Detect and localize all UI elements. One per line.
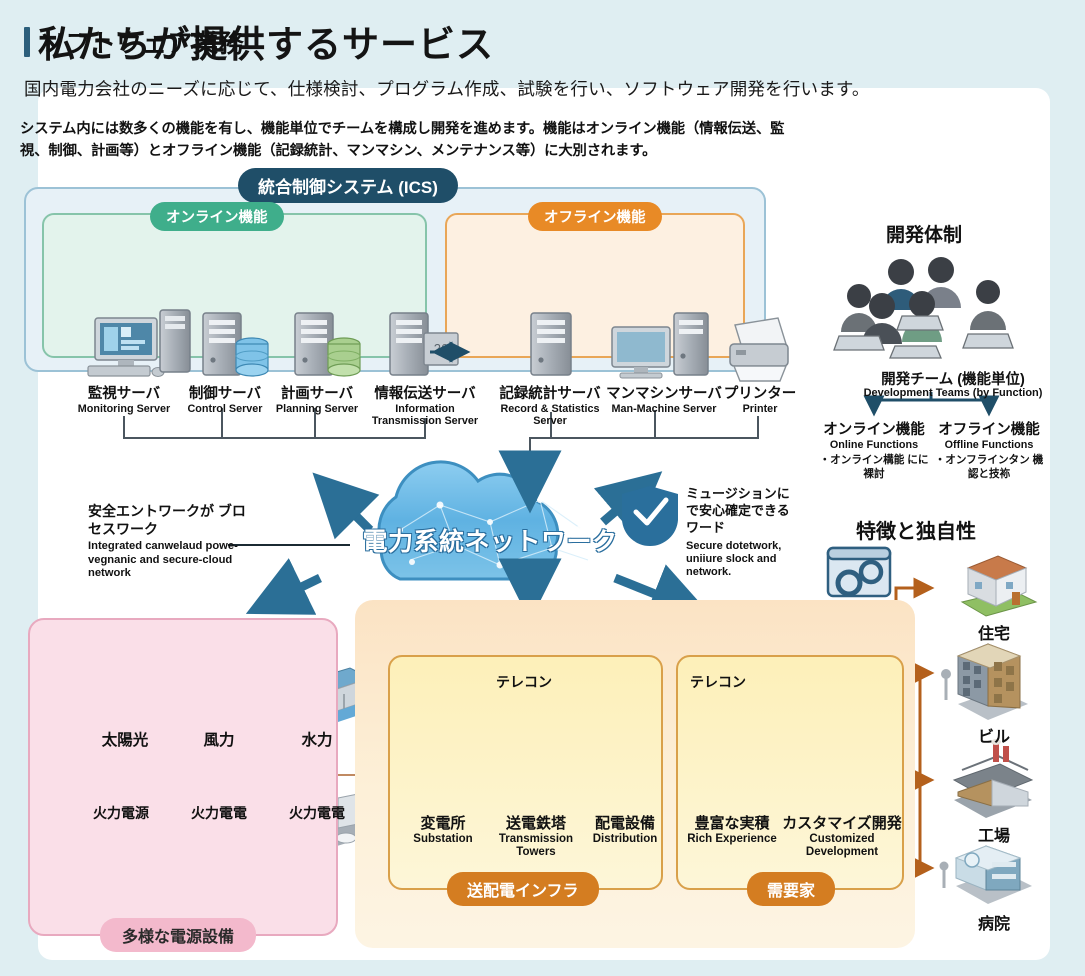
- generation-panel: [28, 618, 338, 936]
- consumer-building: ビル: [944, 723, 1044, 747]
- node-rich-experience: 豊富な実積 Rich Experience: [678, 812, 786, 846]
- server-label-en: Monitoring Server: [76, 403, 172, 415]
- generation-panel-pill: 多様な電源設備: [100, 918, 256, 952]
- server-information-transmission: 情報伝送サーバ Information Transmission Server: [362, 382, 488, 428]
- consumer-label: ビル: [944, 723, 1044, 747]
- consumer-label: 工場: [944, 822, 1044, 846]
- node-label-en: Rich Experience: [678, 833, 786, 846]
- node-label-jp: 豊富な実積: [678, 812, 786, 833]
- gen-label-hydro: 水力: [270, 728, 364, 750]
- server-monitoring: 監視サーバ Monitoring Server: [76, 382, 172, 415]
- node-label-en: Substation: [396, 833, 490, 846]
- section-accent-bar: [24, 27, 30, 57]
- online-functions-box: [42, 213, 427, 358]
- features-title: 特徴と独自性: [856, 515, 976, 544]
- dev-structure-title: 開発体制: [886, 220, 962, 247]
- dev-column-online: オンライン機能 Online Functions ・オンライン構能 にに裸討: [818, 418, 930, 482]
- server-label-en: Planning Server: [270, 403, 364, 415]
- node-label-jp: 配電設備: [580, 812, 670, 833]
- server-record-statistics: 記録統計サーバ Record & Statistics Server: [489, 382, 611, 428]
- server-label-en: Information Transmission Server: [362, 403, 488, 428]
- node-customized-development: カスタマイズ開発 Customized Development: [782, 812, 902, 859]
- server-label-jp: 制御サーバ: [176, 382, 274, 403]
- server-label-jp: 情報伝送サーバ: [362, 382, 488, 403]
- note-secure-network-right: ミュージションに で安心確定できる ワード Secure dotetwork, …: [686, 486, 806, 579]
- dev-team-label-en: Development Teams (by Function): [838, 387, 1068, 399]
- server-label-en: Man-Machine Server: [605, 403, 723, 415]
- gen-label-solar: 太陽光: [78, 728, 172, 750]
- consumer-factory: 工場: [944, 822, 1044, 846]
- server-label-jp: プリンター: [718, 382, 802, 403]
- gen-label-thermal-1: 火力電源: [70, 803, 172, 823]
- infrastructure-panel-pill: 送配電インフラ: [447, 872, 599, 906]
- consumer-label: 住宅: [944, 620, 1044, 644]
- server-label-jp: 監視サーバ: [76, 382, 172, 403]
- note-secure-network-left: 安全エントワークが ブロセスワーク Integrated canwelaud p…: [88, 503, 253, 581]
- dev-column-bullet: ・オンフラインタン 機認と技袮: [933, 454, 1045, 482]
- note-left-jp: 安全エントワークが ブロセスワーク: [88, 503, 253, 538]
- dev-team-label-jp: 開発チーム (機能単位): [838, 368, 1068, 389]
- node-transmission-towers: 送電鉄塔 Transmission Towers: [488, 812, 584, 859]
- dev-column-label-jp: オフライン機能: [933, 418, 1045, 439]
- ics-title-pill: 統合制御システム (ICS): [238, 168, 458, 203]
- description-paragraph: システム内には数多くの機能を有し、機能単位でチームを構成し開発を進めます。機能は…: [20, 118, 800, 162]
- section-header: ソフトウェア業務: [24, 24, 244, 60]
- node-label-jp: カスタマイズ開発: [782, 812, 902, 833]
- dev-column-label-en: Online Functions: [818, 439, 930, 451]
- consumer-label: 病院: [944, 910, 1044, 934]
- dev-column-label-jp: オンライン機能: [818, 418, 930, 439]
- consumer-hospital: 病院: [944, 910, 1044, 934]
- server-planning: 計画サーバ Planning Server: [270, 382, 364, 415]
- server-label-en: Control Server: [176, 403, 274, 415]
- lead-paragraph: 国内電力会社のニーズに応じて、仕様検討、プログラム作成、試験を行い、ソフトウェア…: [24, 76, 870, 101]
- section-title: ソフトウェア業務: [40, 24, 244, 60]
- dev-column-label-en: Offline Functions: [933, 439, 1045, 451]
- demand-panel-pill: 需要家: [747, 872, 835, 906]
- telecon-label-2: テレコン: [690, 672, 746, 692]
- node-label-en: Customized Development: [782, 833, 902, 859]
- online-functions-pill: オンライン機能: [150, 202, 284, 231]
- cloud-label-wrap: 電力系統ネットワーク: [330, 478, 650, 593]
- node-label-jp: 送電鉄塔: [488, 812, 584, 833]
- cloud-label: 電力系統ネットワーク: [330, 522, 650, 558]
- node-substation: 変電所 Substation: [396, 812, 490, 846]
- dev-column-bullet: ・オンライン構能 にに裸討: [818, 454, 930, 482]
- server-control: 制御サーバ Control Server: [176, 382, 274, 415]
- node-label-en: Transmission Towers: [488, 833, 584, 859]
- server-man-machine: マンマシンサーバ Man-Machine Server: [605, 382, 723, 415]
- gen-label-thermal-3: 火力電電: [266, 803, 368, 823]
- node-label-en: Distribution: [580, 833, 670, 846]
- consumer-house: 住宅: [944, 620, 1044, 644]
- note-left-en: Integrated canwelaud powe-vegnanic and s…: [88, 540, 253, 581]
- offline-functions-box: [445, 213, 745, 358]
- node-label-jp: 変電所: [396, 812, 490, 833]
- note-right-en: Secure dotetwork, uniiure slock and netw…: [686, 540, 806, 580]
- server-label-jp: マンマシンサーバ: [605, 382, 723, 403]
- server-printer: プリンター Printer: [718, 382, 802, 415]
- server-label-en: Record & Statistics Server: [489, 403, 611, 428]
- note-right-jp: ミュージションに で安心確定できる ワード: [686, 486, 806, 537]
- server-label-jp: 計画サーバ: [270, 382, 364, 403]
- offline-functions-pill: オフライン機能: [528, 202, 662, 231]
- server-label-en: Printer: [718, 403, 802, 415]
- gen-label-thermal-2: 火力電電: [168, 803, 270, 823]
- node-distribution: 配電設備 Distribution: [580, 812, 670, 846]
- dev-column-offline: オフライン機能 Offline Functions ・オンフラインタン 機認と技…: [933, 418, 1045, 482]
- gen-label-wind: 風力: [172, 728, 266, 750]
- telecon-label-1: テレコン: [496, 672, 552, 692]
- server-label-jp: 記録統計サーバ: [489, 382, 611, 403]
